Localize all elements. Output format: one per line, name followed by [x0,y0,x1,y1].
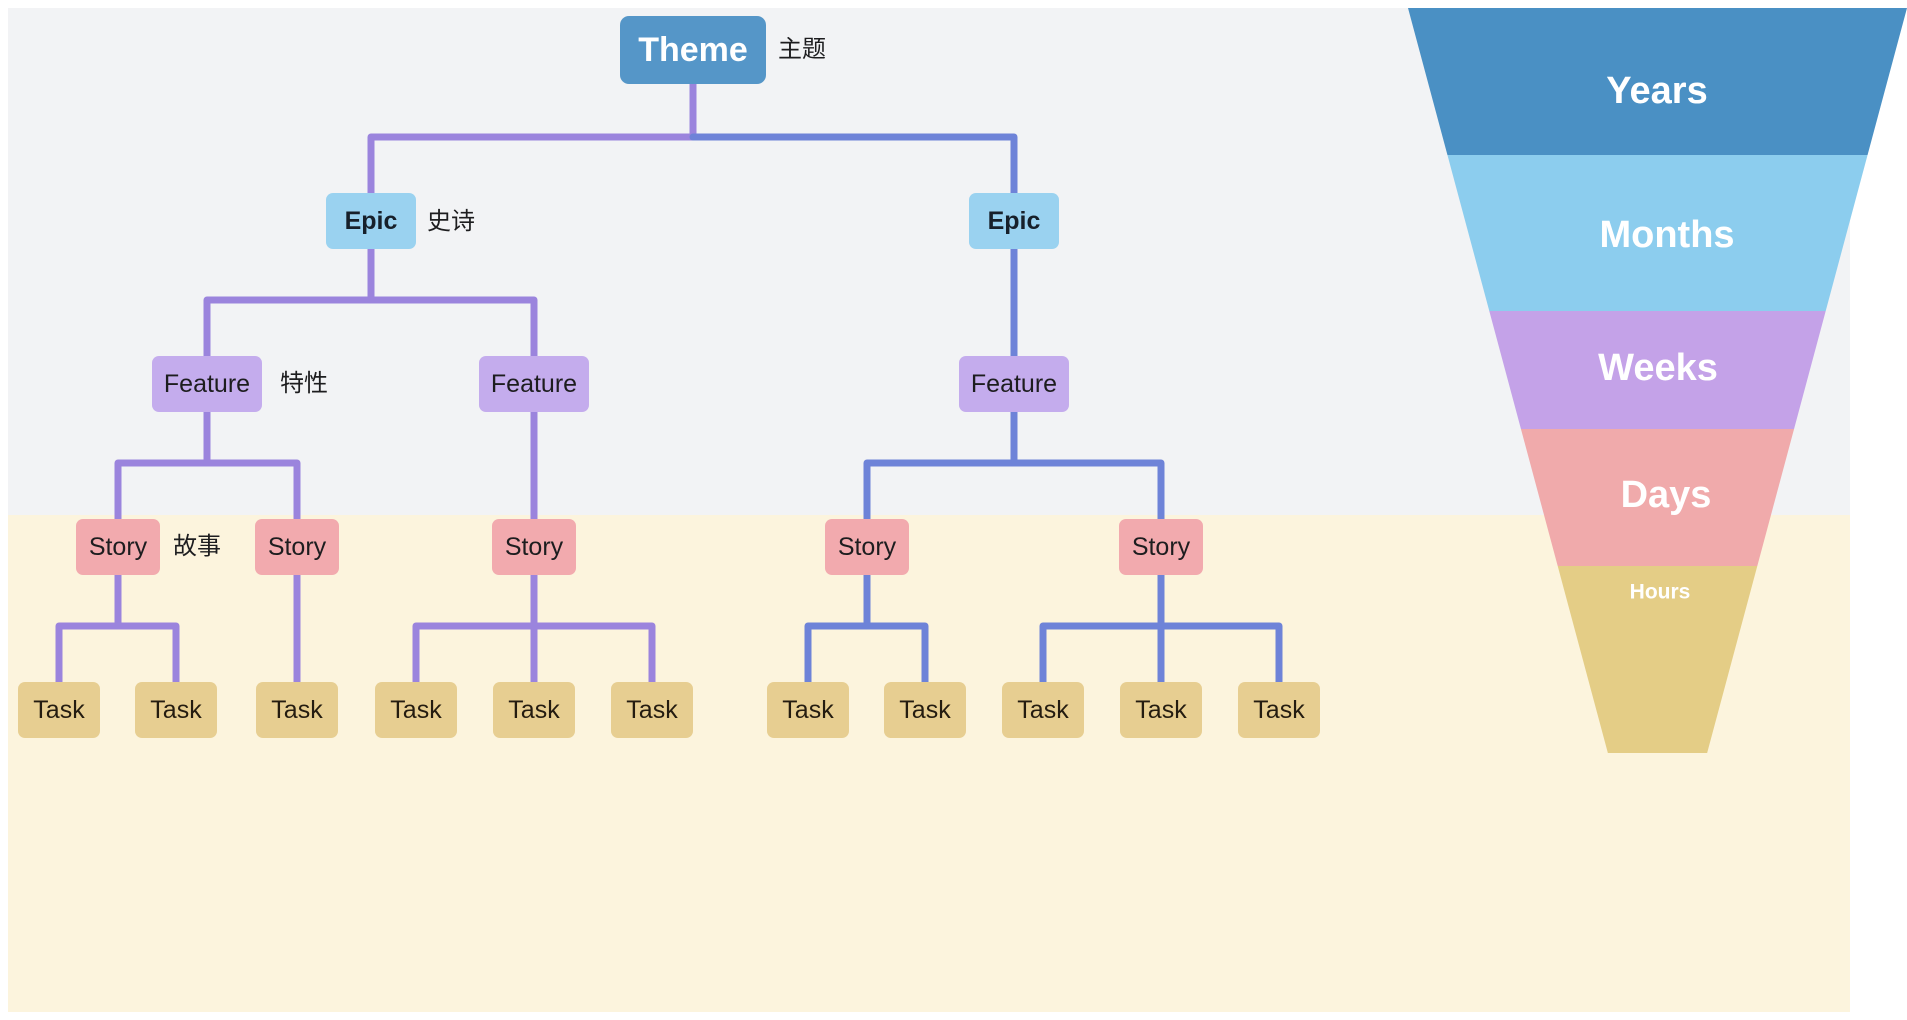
node-theme-1[interactable]: Theme [620,16,766,84]
node-task-8[interactable]: Task [884,682,966,738]
background-band-upper [8,8,1850,515]
node-task-7[interactable]: Task [767,682,849,738]
node-story-2[interactable]: Story [255,519,339,575]
node-task-9[interactable]: Task [1002,682,1084,738]
node-feature-2[interactable]: Feature [479,356,589,412]
annotation-cn-theme: 主题 [778,38,826,62]
node-story-5[interactable]: Story [1119,519,1203,575]
node-task-2[interactable]: Task [135,682,217,738]
annotation-cn-epic: 史诗 [427,210,475,234]
node-task-4[interactable]: Task [375,682,457,738]
node-story-4[interactable]: Story [825,519,909,575]
node-task-6[interactable]: Task [611,682,693,738]
node-story-1[interactable]: Story [76,519,160,575]
node-task-3[interactable]: Task [256,682,338,738]
node-epic-1[interactable]: Epic [326,193,416,249]
node-epic-2[interactable]: Epic [969,193,1059,249]
annotation-cn-feature: 特性 [280,372,328,396]
node-task-5[interactable]: Task [493,682,575,738]
diagram-canvas: ThemeEpicEpicFeatureFeatureFeatureStoryS… [0,0,1907,1020]
node-task-10[interactable]: Task [1120,682,1202,738]
annotation-cn-story: 故事 [173,535,221,559]
node-task-1[interactable]: Task [18,682,100,738]
node-task-11[interactable]: Task [1238,682,1320,738]
node-feature-3[interactable]: Feature [959,356,1069,412]
node-feature-1[interactable]: Feature [152,356,262,412]
background-band-lower [8,515,1850,1012]
node-story-3[interactable]: Story [492,519,576,575]
